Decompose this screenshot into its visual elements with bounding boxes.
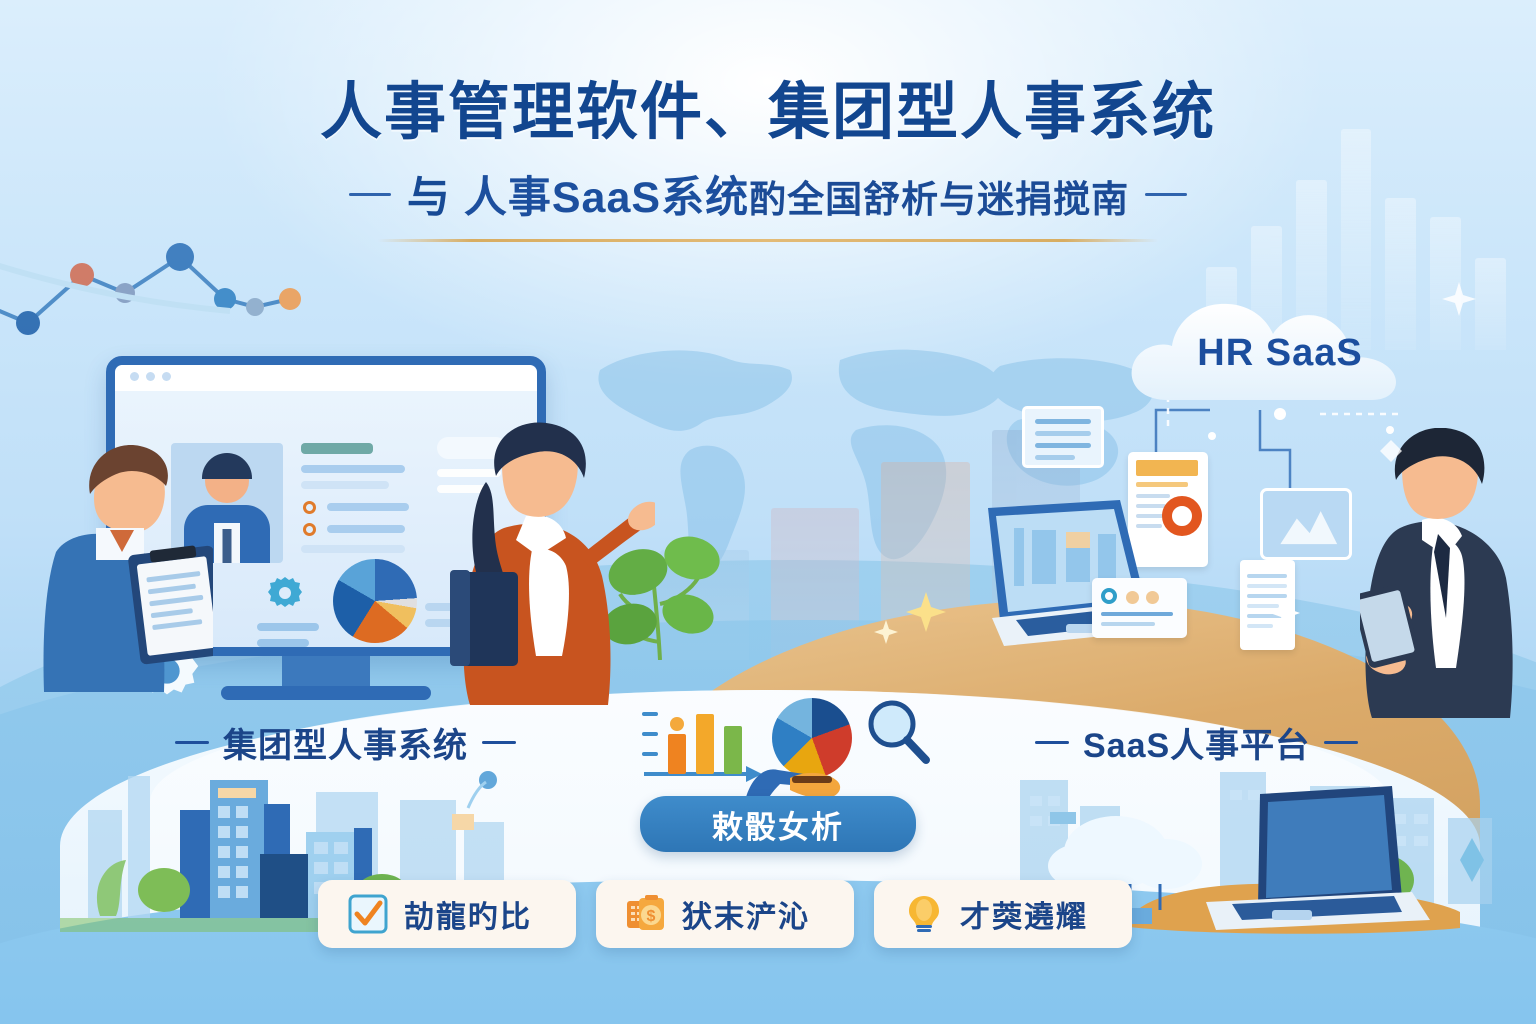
feature-chip-label-1: 劼龍旳比 [404, 892, 532, 936]
section-dash-left-2 [1035, 741, 1069, 744]
feature-chip-solution[interactable]: 才葖遶耀 [874, 880, 1132, 948]
gold-divider [378, 239, 1158, 242]
subtitle-connector: 与 [407, 174, 451, 222]
page-subtitle: 与 人事SaaS系统酌全国舒析与迷捐搅南 [407, 163, 1129, 225]
section-dash-right [482, 741, 516, 744]
analytics-pill-label: 敕骰女析 [712, 802, 844, 847]
sparkle-icon-2 [874, 620, 898, 644]
metrics-minicard [1092, 578, 1187, 638]
monitor-window-titlebar [115, 365, 537, 391]
hr-software-banner: 人事管理软件、集团型人事系统 与 人事SaaS系统酌全国舒析与迷捐搅南 HR S… [0, 0, 1536, 1024]
monitor-base [221, 686, 431, 700]
feature-chip-label-3: 才葖遶耀 [960, 892, 1088, 936]
window-dot-2 [146, 372, 155, 381]
bullet-ring-2 [303, 523, 316, 536]
checkbox-check-icon [348, 894, 388, 934]
feature-chip-cost[interactable]: $ 犾末浐沁 [596, 880, 854, 948]
analytics-cluster: 敕骰女析 [612, 690, 942, 875]
screen-caption-1 [257, 623, 319, 631]
profile-line-3 [327, 503, 409, 511]
profile-line-1 [301, 465, 405, 473]
section-dash-right-2 [1324, 741, 1358, 744]
screen-pie-chart [333, 559, 417, 643]
feature-chip-label-2: 犾末浐沁 [682, 892, 810, 936]
window-dot-3 [162, 372, 171, 381]
info-card-top [1022, 406, 1104, 468]
analytics-banner-pill: 敕骰女析 [640, 796, 916, 852]
profile-line-5 [301, 545, 405, 553]
profile-line-4 [327, 525, 405, 533]
money-documents-icon: $ [626, 894, 666, 934]
magnifier-icon [862, 696, 932, 766]
subtitle-row: 与 人事SaaS系统酌全国舒析与迷捐搅南 [0, 163, 1536, 225]
title-block: 人事管理软件、集团型人事系统 与 人事SaaS系统酌全国舒析与迷捐搅南 [0, 78, 1536, 242]
lightbulb-icon [904, 894, 944, 934]
diamond-icon [1380, 440, 1402, 462]
saas-scene-illustration [960, 390, 1520, 720]
window-dot-1 [130, 372, 139, 381]
bullet-ring-1 [303, 501, 316, 514]
person-male-right [1360, 428, 1520, 718]
subtitle-highlight: 人事SaaS系统 [464, 174, 749, 222]
image-card [1260, 488, 1352, 560]
subtitle-tail: 酌全国舒析与迷捐搅南 [749, 179, 1129, 220]
section-dash-left [175, 741, 209, 744]
page-title: 人事管理软件、集团型人事系统 [0, 78, 1536, 147]
subtitle-dash-left [349, 193, 391, 196]
subtitle-dash-right [1145, 193, 1187, 196]
feature-chip-comparison[interactable]: 劼龍旳比 [318, 880, 576, 948]
monitor-stand [282, 656, 370, 690]
screen-caption-2 [257, 639, 309, 647]
sparkle-icon-3 [1270, 598, 1300, 628]
profile-line-2 [301, 481, 389, 489]
section-label-right: SaaS人事平台 [1083, 718, 1310, 767]
sparkle-icon-1 [906, 592, 946, 632]
profile-heading-line [301, 443, 373, 454]
section-label-group-hr: 集团型人事系统 [175, 718, 516, 767]
feature-chip-row: 劼龍旳比 $ 犾末浐沁 [318, 880, 1132, 948]
section-label-left: 集团型人事系统 [223, 718, 468, 767]
section-label-saas-platform: SaaS人事平台 [1035, 718, 1358, 767]
hr-saas-cloud-badge: HR SaaS [1120, 288, 1440, 408]
svg-text:$: $ [647, 908, 656, 925]
cloud-badge-label: HR SaaS [1120, 332, 1440, 375]
person-male-left [38, 432, 213, 692]
gear-icon [265, 573, 305, 613]
photo-tie [223, 529, 232, 563]
sparkle-icon-4 [1442, 282, 1476, 316]
person-female-presenter [440, 420, 655, 705]
